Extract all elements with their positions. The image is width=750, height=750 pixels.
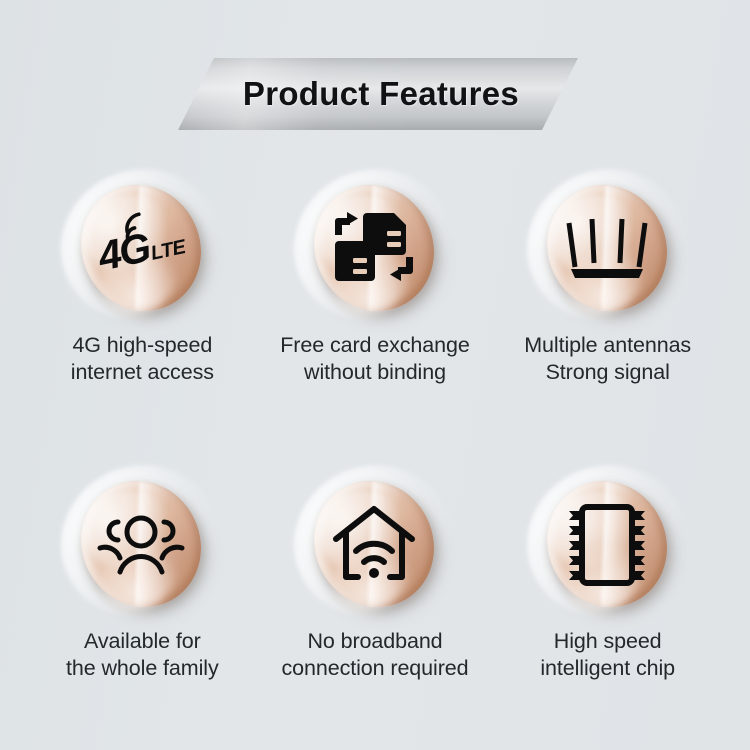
page-title: Product Features xyxy=(178,58,578,130)
signal-arcs-icon xyxy=(120,213,152,242)
feature-icon-disc xyxy=(508,168,708,326)
feature-item-family: Available for the whole family xyxy=(26,464,259,682)
feature-caption: 4G high-speed internet access xyxy=(71,332,214,386)
arrow-down-right xyxy=(390,257,413,281)
feature-caption: Multiple antennas Strong signal xyxy=(524,332,691,386)
feature-icon-disc xyxy=(275,168,475,326)
arrow-up-right xyxy=(335,212,358,235)
feature-caption: High speed intelligent chip xyxy=(540,628,675,682)
feature-icon-disc xyxy=(508,464,708,622)
lte-label: LTE xyxy=(149,237,187,264)
family-group-icon xyxy=(82,480,200,608)
feature-caption: Available for the whole family xyxy=(66,628,219,682)
feature-item-home-wifi: No broadband connection required xyxy=(259,464,492,682)
feature-item-card-exchange: Free card exchange without binding xyxy=(259,168,492,386)
feature-item-chip: High speed intelligent chip xyxy=(491,464,724,682)
home-wifi-icon xyxy=(315,480,433,608)
feature-icon-disc xyxy=(275,464,475,622)
feature-item-4g-lte: 4G LTE 4G high-speed internet access xyxy=(26,168,259,386)
feature-caption: No broadband connection required xyxy=(282,628,469,682)
router-antennas-icon xyxy=(548,184,666,312)
title-banner: Product Features xyxy=(178,58,578,130)
feature-icon-disc: 4G LTE xyxy=(42,168,242,326)
product-features-page: Product Features 4G LTE xyxy=(0,0,750,750)
sim-card-exchange-icon xyxy=(315,184,433,312)
feature-icon-disc xyxy=(42,464,242,622)
chip-icon xyxy=(548,480,666,608)
feature-caption: Free card exchange without binding xyxy=(280,332,469,386)
4g-lte-wordmark: 4G LTE xyxy=(95,220,188,276)
feature-item-antennas: Multiple antennas Strong signal xyxy=(491,168,724,386)
4g-lte-icon: 4G LTE xyxy=(82,184,200,312)
feature-grid: 4G LTE 4G high-speed internet access xyxy=(26,168,724,682)
